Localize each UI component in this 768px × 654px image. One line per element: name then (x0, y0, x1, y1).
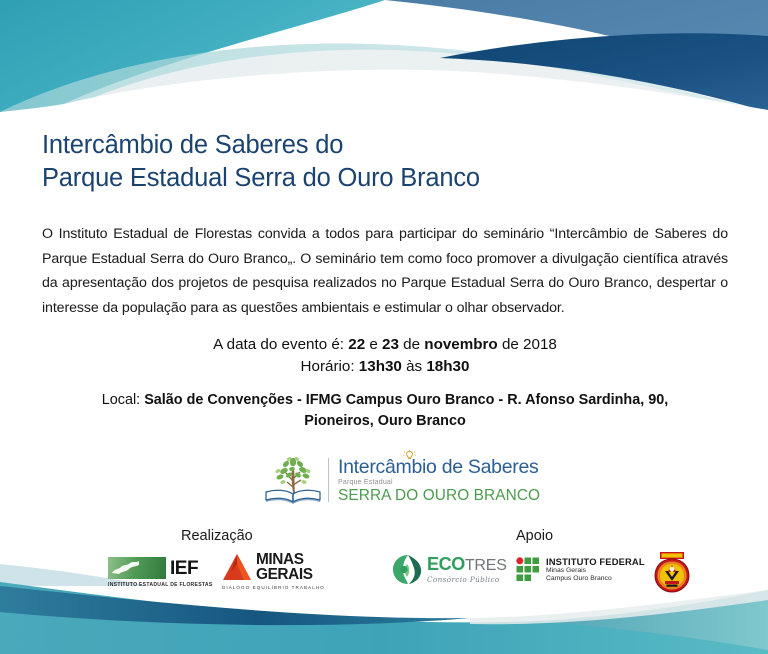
event-logo-line-2: Parque Estadual (338, 478, 540, 487)
page-title: Intercâmbio de Saberes do Parque Estadua… (42, 129, 692, 195)
event-date-line: A data do evento é: 22 e 23 de novembro … (42, 334, 728, 356)
logo-divider (328, 458, 329, 502)
time-prefix: Horário: (301, 358, 359, 375)
ecotres-row: ECOTRES Consórcio Público (392, 554, 504, 585)
minas-gerais-wordmark: MINAS GERAIS (256, 553, 313, 582)
date-day-1: 22 (348, 336, 365, 353)
event-poster: Intercâmbio de Saberes do Parque Estadua… (0, 0, 768, 654)
minas-gerais-mountain-icon (222, 552, 253, 582)
ief-acronym: IEF (170, 559, 198, 578)
location-line-2: Pioneiros, Ouro Branco (304, 413, 466, 429)
time-end: 18h30 (426, 358, 469, 375)
time-start: 13h30 (359, 358, 402, 375)
realizacao-label: Realização (181, 528, 253, 544)
date-conjunction: e (365, 336, 382, 353)
event-logo-wordmark: Intercâmbio de Saberes Parque Estadual S… (338, 457, 540, 504)
date-year: de 2018 (498, 336, 557, 353)
logo-coat-of-arms (652, 551, 692, 593)
tree-on-open-book-icon (262, 453, 324, 507)
logo-ief: IEF INSTITUTO ESTADUAL DE FLORESTAS (108, 557, 212, 588)
logo-ecotres: ECOTRES Consórcio Público (392, 554, 504, 585)
event-logo: Intercâmbio de Saberes Parque Estadual S… (262, 452, 528, 508)
date-month: novembro (424, 336, 497, 353)
ief-subtitle: INSTITUTO ESTADUAL DE FLORESTAS (108, 582, 212, 588)
lightbulb-icon (403, 450, 416, 462)
ifmg-line-2: Minas Gerais (546, 567, 645, 575)
instituto-federal-grid-icon (516, 557, 541, 582)
minas-gerais-row: MINAS GERAIS (222, 552, 322, 582)
ifmg-line-1: INSTITUTO FEDERAL (546, 556, 645, 567)
event-location: Local: Salão de Convenções - IFMG Campus… (60, 390, 710, 432)
ecotres-subtitle: Consórcio Público (427, 576, 507, 583)
ifmg-row: INSTITUTO FEDERAL Minas Gerais Campus Ou… (516, 556, 644, 584)
description-paragraph: O Instituto Estadual de Florestas convid… (42, 222, 728, 320)
logo-instituto-federal: INSTITUTO FEDERAL Minas Gerais Campus Ou… (516, 556, 644, 584)
time-separator: às (402, 358, 426, 375)
location-line-1: Salão de Convenções - IFMG Campus Ouro B… (144, 392, 668, 408)
event-logo-line-3: SERRA DO OURO BRANCO (338, 487, 540, 504)
ifmg-wordmark: INSTITUTO FEDERAL Minas Gerais Campus Ou… (546, 556, 645, 584)
title-line-1: Intercâmbio de Saberes do (42, 129, 692, 162)
title-line-2: Parque Estadual Serra do Ouro Branco (42, 162, 692, 195)
date-day-2: 23 (382, 336, 399, 353)
ecotres-leaf-icon (392, 554, 424, 585)
ief-map-icon (108, 557, 166, 579)
gerais-word: GERAIS (256, 568, 313, 583)
event-datetime: A data do evento é: 22 e 23 de novembro … (42, 334, 728, 378)
minas-gerais-subtitle: DIÁLOGO EQUILÍBRIO TRABALHO (222, 585, 322, 590)
date-de: de (399, 336, 424, 353)
ief-row: IEF (108, 557, 212, 579)
ifmg-line-3: Campus Ouro Branco (546, 575, 645, 583)
date-prefix: A data do evento é: (213, 336, 348, 353)
event-time-line: Horário: 13h30 às 18h30 (42, 356, 728, 378)
ecotres-wordmark: ECOTRES Consórcio Público (427, 555, 507, 583)
apoio-label: Apoio (516, 528, 553, 544)
tres-word: TRES (465, 557, 507, 574)
location-label: Local: (102, 392, 144, 408)
logo-minas-gerais: MINAS GERAIS DIÁLOGO EQUILÍBRIO TRABALHO (222, 552, 322, 590)
coat-of-arms-crest-icon (652, 551, 692, 593)
event-logo-line-1: Intercâmbio de Saberes (338, 457, 540, 478)
eco-word: ECO (427, 554, 465, 574)
